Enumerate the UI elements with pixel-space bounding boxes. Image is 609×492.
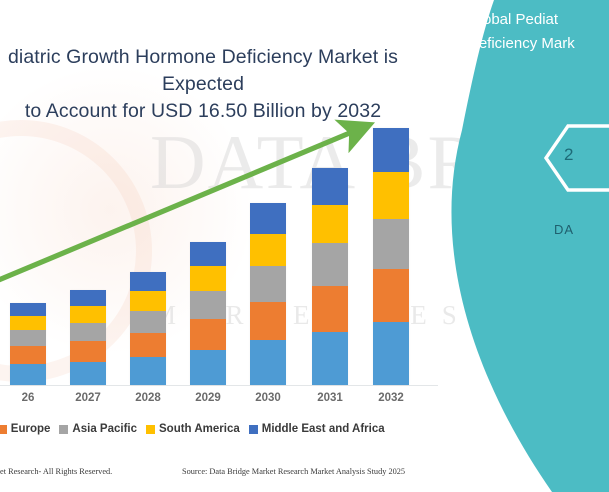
bar-segment-middle-east-and-africa — [312, 168, 348, 205]
side-panel-title: Global Pediat Deficiency Mark — [468, 8, 609, 56]
side-panel: Global Pediat Deficiency Mark 2 DA — [434, 0, 609, 492]
legend-swatch-icon — [146, 425, 155, 434]
bar-segment-europe — [373, 269, 409, 323]
bar-2032 — [373, 128, 409, 385]
bar-segment-europe — [250, 302, 286, 340]
footer: dge Market Research- All Rights Reserved… — [0, 467, 470, 483]
x-label-2029: 2029 — [178, 392, 238, 404]
bar-segment-asia-pacific — [70, 323, 106, 342]
side-panel-brand: DA — [554, 222, 574, 237]
bar-segment-middle-east-and-africa — [250, 203, 286, 234]
legend-label: Asia Pacific — [72, 423, 137, 435]
x-label-2030: 2030 — [238, 392, 298, 404]
legend-label: South America — [159, 423, 240, 435]
x-label-26: 26 — [0, 392, 58, 404]
bar-segment-middle-east-and-africa — [190, 242, 226, 266]
legend-swatch-icon — [59, 425, 68, 434]
bar-segment-asia-pacific — [10, 330, 46, 346]
legend-item-asia-pacific[interactable]: Asia Pacific — [59, 423, 137, 435]
x-label-2028: 2028 — [118, 392, 178, 404]
bar-segment-south-america — [70, 306, 106, 323]
chart-baseline — [0, 385, 438, 386]
legend-item-europe[interactable]: Europe — [0, 423, 50, 435]
bar-2029 — [190, 242, 226, 385]
cagr-value: 2 — [564, 145, 573, 165]
cagr-hexagon: 2 — [542, 122, 609, 194]
bar-segment-asia-pacific — [130, 311, 166, 333]
legend-label: Middle East and Africa — [262, 423, 385, 435]
bar-segment-europe — [312, 286, 348, 332]
bar-26 — [10, 303, 46, 385]
chart-x-axis-labels: 26202720282029203020312032 — [0, 392, 450, 408]
bar-segment-asia-pacific — [373, 219, 409, 269]
bar-segment-south-america — [312, 205, 348, 244]
bar-segment-asia-pacific — [190, 291, 226, 320]
bar-segment-south-america — [373, 172, 409, 218]
bar-segment-south-america — [10, 316, 46, 330]
legend-item-middle-east-and-africa[interactable]: Middle East and Africa — [249, 423, 385, 435]
x-label-2031: 2031 — [300, 392, 360, 404]
bar-segment-europe — [190, 319, 226, 349]
bar-segment-europe — [70, 341, 106, 361]
bar-segment-ca — [70, 362, 106, 385]
footer-copyright: dge Market Research- All Rights Reserved… — [0, 467, 112, 476]
bar-segment-asia-pacific — [312, 243, 348, 285]
bar-2028 — [130, 272, 166, 385]
bar-2031 — [312, 168, 348, 385]
side-panel-title-line-2: Deficiency Mark — [468, 32, 609, 56]
bar-2027 — [70, 290, 106, 385]
bar-segment-europe — [10, 346, 46, 364]
bar-segment-middle-east-and-africa — [10, 303, 46, 316]
bar-segment-south-america — [190, 266, 226, 291]
side-panel-title-line-1: Global Pediat — [468, 8, 609, 32]
legend-item-south-america[interactable]: South America — [146, 423, 240, 435]
bar-segment-asia-pacific — [250, 266, 286, 302]
legend-swatch-icon — [249, 425, 258, 434]
title-line-1: diatric Growth Hormone Deficiency Market… — [0, 44, 438, 98]
bar-2030 — [250, 203, 286, 385]
legend-label: Europe — [11, 423, 51, 435]
bar-segment-middle-east-and-africa — [70, 290, 106, 306]
bar-segment-ca — [190, 350, 226, 385]
bar-segment-ca — [373, 322, 409, 385]
bar-segment-middle-east-and-africa — [130, 272, 166, 291]
bar-segment-south-america — [250, 234, 286, 266]
x-label-2027: 2027 — [58, 392, 118, 404]
chart-legend: caEuropeAsia PacificSouth AmericaMiddle … — [0, 423, 436, 435]
bar-segment-ca — [312, 332, 348, 385]
bar-segment-ca — [250, 340, 286, 385]
bar-segment-middle-east-and-africa — [373, 128, 409, 172]
bar-segment-south-america — [130, 291, 166, 311]
x-label-2032: 2032 — [361, 392, 421, 404]
hexagon-icon — [542, 122, 609, 194]
bar-segment-europe — [130, 333, 166, 357]
stacked-bar-chart — [0, 100, 450, 390]
legend-swatch-icon — [0, 425, 7, 434]
bar-segment-ca — [130, 357, 166, 385]
bar-segment-ca — [10, 364, 46, 385]
side-panel-shape — [434, 0, 609, 492]
footer-source: Source: Data Bridge Market Research Mark… — [182, 467, 405, 476]
infographic-canvas: DATA BRIDGE MARKET RESEARCH diatric Grow… — [0, 0, 609, 492]
